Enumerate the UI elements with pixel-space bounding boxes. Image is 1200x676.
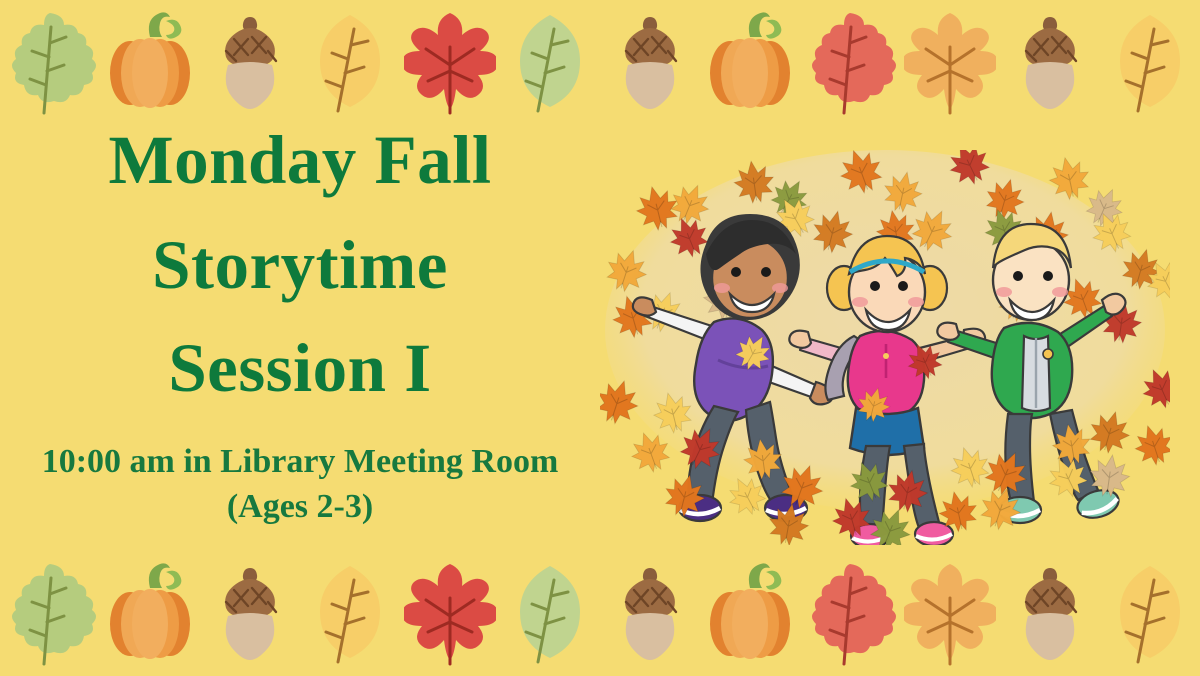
green-oak-leaf-icon xyxy=(4,558,96,670)
red-maple-leaf-icon xyxy=(404,558,496,670)
poster-text-block: Monday Fall Storytime Session I 10:00 am… xyxy=(0,118,600,548)
top-decorative-border xyxy=(0,0,1200,125)
red-maple-leaf-icon xyxy=(404,7,496,119)
bottom-decorative-border xyxy=(0,551,1200,676)
page-title-line-1: Monday Fall xyxy=(108,126,491,195)
acorn-icon xyxy=(604,558,696,670)
red-oak-leaf-icon xyxy=(804,7,896,119)
green-leaf-icon xyxy=(504,558,596,670)
acorn-icon xyxy=(204,558,296,670)
pumpkin-icon xyxy=(104,7,196,119)
yellow-leaf-icon xyxy=(1104,7,1196,119)
blond-boy-head xyxy=(993,224,1071,320)
yellow-leaf-icon xyxy=(304,558,396,670)
event-age-range: (Ages 2-3) xyxy=(227,486,373,527)
pumpkin-icon xyxy=(704,7,796,119)
pumpkin-icon xyxy=(704,558,796,670)
children-in-leaves-illustration xyxy=(600,150,1170,545)
acorn-icon xyxy=(1004,558,1096,670)
orange-maple-leaf-icon xyxy=(904,558,996,670)
yellow-leaf-icon xyxy=(1104,558,1196,670)
page-title-line-3: Session I xyxy=(168,334,431,403)
page-title-line-2: Storytime xyxy=(152,231,448,300)
acorn-icon xyxy=(1004,7,1096,119)
pumpkin-icon xyxy=(104,558,196,670)
orange-maple-leaf-icon xyxy=(904,7,996,119)
red-oak-leaf-icon xyxy=(804,558,896,670)
fall-storytime-poster: Monday Fall Storytime Session I 10:00 am… xyxy=(0,0,1200,676)
acorn-icon xyxy=(204,7,296,119)
yellow-leaf-icon xyxy=(304,7,396,119)
acorn-icon xyxy=(604,7,696,119)
green-oak-leaf-icon xyxy=(4,7,96,119)
green-leaf-icon xyxy=(504,7,596,119)
event-time-location: 10:00 am in Library Meeting Room xyxy=(42,441,559,482)
